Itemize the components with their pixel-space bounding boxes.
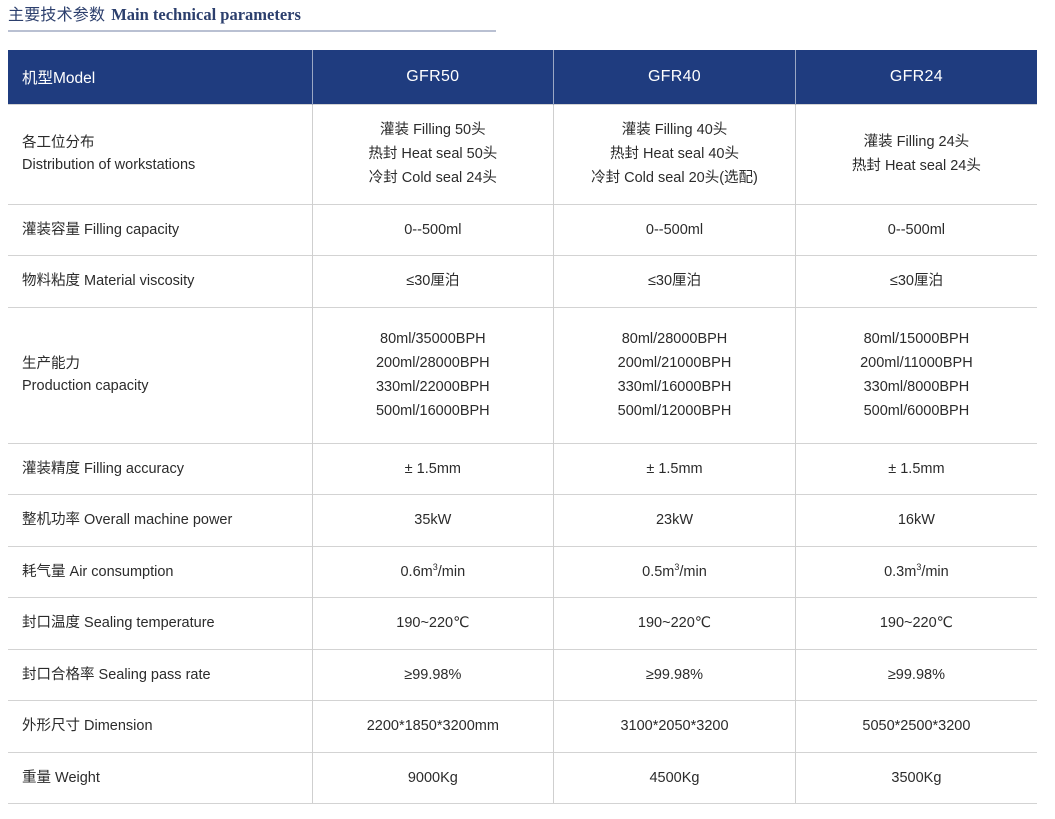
- row-label-line: Production capacity: [22, 375, 298, 397]
- table-row: 物料粘度 Material viscosity≤30厘泊≤30厘泊≤30厘泊: [8, 256, 1037, 308]
- table-row: 各工位分布Distribution of workstations灌装 Fill…: [8, 104, 1037, 204]
- value-line: 200ml/21000BPH: [568, 351, 781, 375]
- value-cell-gfr50: 灌装 Filling 50头热封 Heat seal 50头冷封 Cold se…: [312, 104, 554, 204]
- row-label-line: 封口合格率 Sealing pass rate: [22, 664, 298, 686]
- column-header-gfr24: GFR24: [795, 50, 1037, 104]
- value-line: 500ml/12000BPH: [568, 399, 781, 423]
- value-cell-gfr24: 0--500ml: [795, 204, 1037, 256]
- value-line: 0--500ml: [810, 218, 1023, 242]
- value-cell-gfr24: 3500Kg: [795, 752, 1037, 804]
- value-line: 0.3m3/min: [810, 560, 1023, 584]
- value-line: 3100*2050*3200: [568, 714, 781, 738]
- value-line: 35kW: [327, 508, 540, 532]
- value-cell-gfr50: 0.6m3/min: [312, 546, 554, 598]
- value-cell-gfr24: 80ml/15000BPH200ml/11000BPH330ml/8000BPH…: [795, 307, 1037, 443]
- value-line: 5050*2500*3200: [810, 714, 1023, 738]
- page-title: 主要技术参数Main technical parameters: [8, 4, 496, 30]
- value-line: 500ml/16000BPH: [327, 399, 540, 423]
- value-cell-gfr40: 23kW: [554, 495, 796, 547]
- row-label-cell: 封口温度 Sealing temperature: [8, 598, 312, 650]
- page-title-en: Main technical parameters: [111, 5, 301, 24]
- value-line: 3500Kg: [810, 766, 1023, 790]
- row-label-line: 重量 Weight: [22, 767, 298, 789]
- value-line: 4500Kg: [568, 766, 781, 790]
- value-cell-gfr50: ± 1.5mm: [312, 443, 554, 495]
- table-row: 重量 Weight9000Kg4500Kg3500Kg: [8, 752, 1037, 804]
- page-title-block: 主要技术参数Main technical parameters: [8, 4, 496, 32]
- row-label-line: 封口温度 Sealing temperature: [22, 612, 298, 634]
- value-cell-gfr24: 5050*2500*3200: [795, 701, 1037, 753]
- value-line: 16kW: [810, 508, 1023, 532]
- column-header-model-label: 机型Model: [8, 50, 312, 104]
- table-row: 整机功率 Overall machine power35kW23kW16kW: [8, 495, 1037, 547]
- row-label-line: 生产能力: [22, 353, 298, 375]
- row-label-cell: 各工位分布Distribution of workstations: [8, 104, 312, 204]
- value-cell-gfr50: ≤30厘泊: [312, 256, 554, 308]
- value-cell-gfr24: 16kW: [795, 495, 1037, 547]
- value-line: 灌装 Filling 50头: [327, 118, 540, 142]
- row-label-line: 灌装容量 Filling capacity: [22, 219, 298, 241]
- table-row: 封口合格率 Sealing pass rate≥99.98%≥99.98%≥99…: [8, 649, 1037, 701]
- value-line: 0.5m3/min: [568, 560, 781, 584]
- table-header: 机型Model GFR50 GFR40 GFR24: [8, 50, 1037, 104]
- value-line: 0.6m3/min: [327, 560, 540, 584]
- value-cell-gfr40: 0--500ml: [554, 204, 796, 256]
- value-line: 热封 Heat seal 24头: [810, 154, 1023, 178]
- value-line: 330ml/16000BPH: [568, 375, 781, 399]
- value-line: ± 1.5mm: [810, 457, 1023, 481]
- table-body: 各工位分布Distribution of workstations灌装 Fill…: [8, 104, 1037, 804]
- column-header-gfr50: GFR50: [312, 50, 554, 104]
- value-line: 热封 Heat seal 40头: [568, 142, 781, 166]
- value-cell-gfr50: 9000Kg: [312, 752, 554, 804]
- title-underline: [8, 30, 496, 32]
- row-label-cell: 重量 Weight: [8, 752, 312, 804]
- value-line: ≤30厘泊: [568, 269, 781, 293]
- row-label-cell: 耗气量 Air consumption: [8, 546, 312, 598]
- value-line: 330ml/8000BPH: [810, 375, 1023, 399]
- row-label-cell: 整机功率 Overall machine power: [8, 495, 312, 547]
- row-label-cell: 灌装容量 Filling capacity: [8, 204, 312, 256]
- value-line: 灌装 Filling 24头: [810, 130, 1023, 154]
- value-cell-gfr24: 灌装 Filling 24头热封 Heat seal 24头: [795, 104, 1037, 204]
- value-cell-gfr50: 35kW: [312, 495, 554, 547]
- row-label-line: 外形尺寸 Dimension: [22, 715, 298, 737]
- value-line: 0--500ml: [327, 218, 540, 242]
- value-line: ± 1.5mm: [568, 457, 781, 481]
- row-label-line: 灌装精度 Filling accuracy: [22, 458, 298, 480]
- column-header-gfr40: GFR40: [554, 50, 796, 104]
- value-cell-gfr40: 0.5m3/min: [554, 546, 796, 598]
- row-label-line: 耗气量 Air consumption: [22, 561, 298, 583]
- value-line: 330ml/22000BPH: [327, 375, 540, 399]
- value-cell-gfr40: 80ml/28000BPH200ml/21000BPH330ml/16000BP…: [554, 307, 796, 443]
- value-line: ± 1.5mm: [327, 457, 540, 481]
- row-label-line: 整机功率 Overall machine power: [22, 509, 298, 531]
- value-line: ≥99.98%: [568, 663, 781, 687]
- value-line: 80ml/15000BPH: [810, 327, 1023, 351]
- value-line: 190~220℃: [810, 611, 1023, 635]
- value-cell-gfr50: 0--500ml: [312, 204, 554, 256]
- value-line: 9000Kg: [327, 766, 540, 790]
- value-line: 500ml/6000BPH: [810, 399, 1023, 423]
- row-label-cell: 生产能力Production capacity: [8, 307, 312, 443]
- value-line: 2200*1850*3200mm: [327, 714, 540, 738]
- table-row: 耗气量 Air consumption0.6m3/min0.5m3/min0.3…: [8, 546, 1037, 598]
- row-label-cell: 封口合格率 Sealing pass rate: [8, 649, 312, 701]
- value-cell-gfr40: 190~220℃: [554, 598, 796, 650]
- value-line: 80ml/35000BPH: [327, 327, 540, 351]
- value-line: 80ml/28000BPH: [568, 327, 781, 351]
- row-label-cell: 物料粘度 Material viscosity: [8, 256, 312, 308]
- value-line: ≥99.98%: [810, 663, 1023, 687]
- value-cell-gfr40: ± 1.5mm: [554, 443, 796, 495]
- row-label-cell: 灌装精度 Filling accuracy: [8, 443, 312, 495]
- value-line: ≤30厘泊: [810, 269, 1023, 293]
- value-line: 190~220℃: [568, 611, 781, 635]
- table-row: 灌装精度 Filling accuracy± 1.5mm± 1.5mm± 1.5…: [8, 443, 1037, 495]
- value-cell-gfr50: 80ml/35000BPH200ml/28000BPH330ml/22000BP…: [312, 307, 554, 443]
- value-cell-gfr24: ± 1.5mm: [795, 443, 1037, 495]
- value-cell-gfr24: ≤30厘泊: [795, 256, 1037, 308]
- value-line: 190~220℃: [327, 611, 540, 635]
- table-row: 封口温度 Sealing temperature190~220℃190~220℃…: [8, 598, 1037, 650]
- table-row: 外形尺寸 Dimension2200*1850*3200mm3100*2050*…: [8, 701, 1037, 753]
- value-line: 热封 Heat seal 50头: [327, 142, 540, 166]
- value-line: 0--500ml: [568, 218, 781, 242]
- value-cell-gfr40: ≤30厘泊: [554, 256, 796, 308]
- value-cell-gfr40: ≥99.98%: [554, 649, 796, 701]
- row-label-line: 物料粘度 Material viscosity: [22, 270, 298, 292]
- value-cell-gfr40: 灌装 Filling 40头热封 Heat seal 40头冷封 Cold se…: [554, 104, 796, 204]
- value-cell-gfr40: 3100*2050*3200: [554, 701, 796, 753]
- page-title-cn: 主要技术参数: [8, 5, 105, 24]
- table-row: 灌装容量 Filling capacity0--500ml0--500ml0--…: [8, 204, 1037, 256]
- specifications-table: 机型Model GFR50 GFR40 GFR24 各工位分布Distribut…: [8, 50, 1037, 804]
- value-line: 23kW: [568, 508, 781, 532]
- value-cell-gfr50: 190~220℃: [312, 598, 554, 650]
- row-label-line: 各工位分布: [22, 132, 298, 154]
- value-line: 200ml/11000BPH: [810, 351, 1023, 375]
- value-line: 冷封 Cold seal 20头(选配): [568, 166, 781, 190]
- table-row: 生产能力Production capacity80ml/35000BPH200m…: [8, 307, 1037, 443]
- value-cell-gfr50: 2200*1850*3200mm: [312, 701, 554, 753]
- value-cell-gfr50: ≥99.98%: [312, 649, 554, 701]
- value-cell-gfr24: ≥99.98%: [795, 649, 1037, 701]
- value-line: 冷封 Cold seal 24头: [327, 166, 540, 190]
- table-header-row: 机型Model GFR50 GFR40 GFR24: [8, 50, 1037, 104]
- value-cell-gfr24: 0.3m3/min: [795, 546, 1037, 598]
- value-line: ≤30厘泊: [327, 269, 540, 293]
- value-line: 灌装 Filling 40头: [568, 118, 781, 142]
- value-cell-gfr24: 190~220℃: [795, 598, 1037, 650]
- value-line: 200ml/28000BPH: [327, 351, 540, 375]
- value-cell-gfr40: 4500Kg: [554, 752, 796, 804]
- row-label-cell: 外形尺寸 Dimension: [8, 701, 312, 753]
- value-line: ≥99.98%: [327, 663, 540, 687]
- row-label-line: Distribution of workstations: [22, 154, 298, 176]
